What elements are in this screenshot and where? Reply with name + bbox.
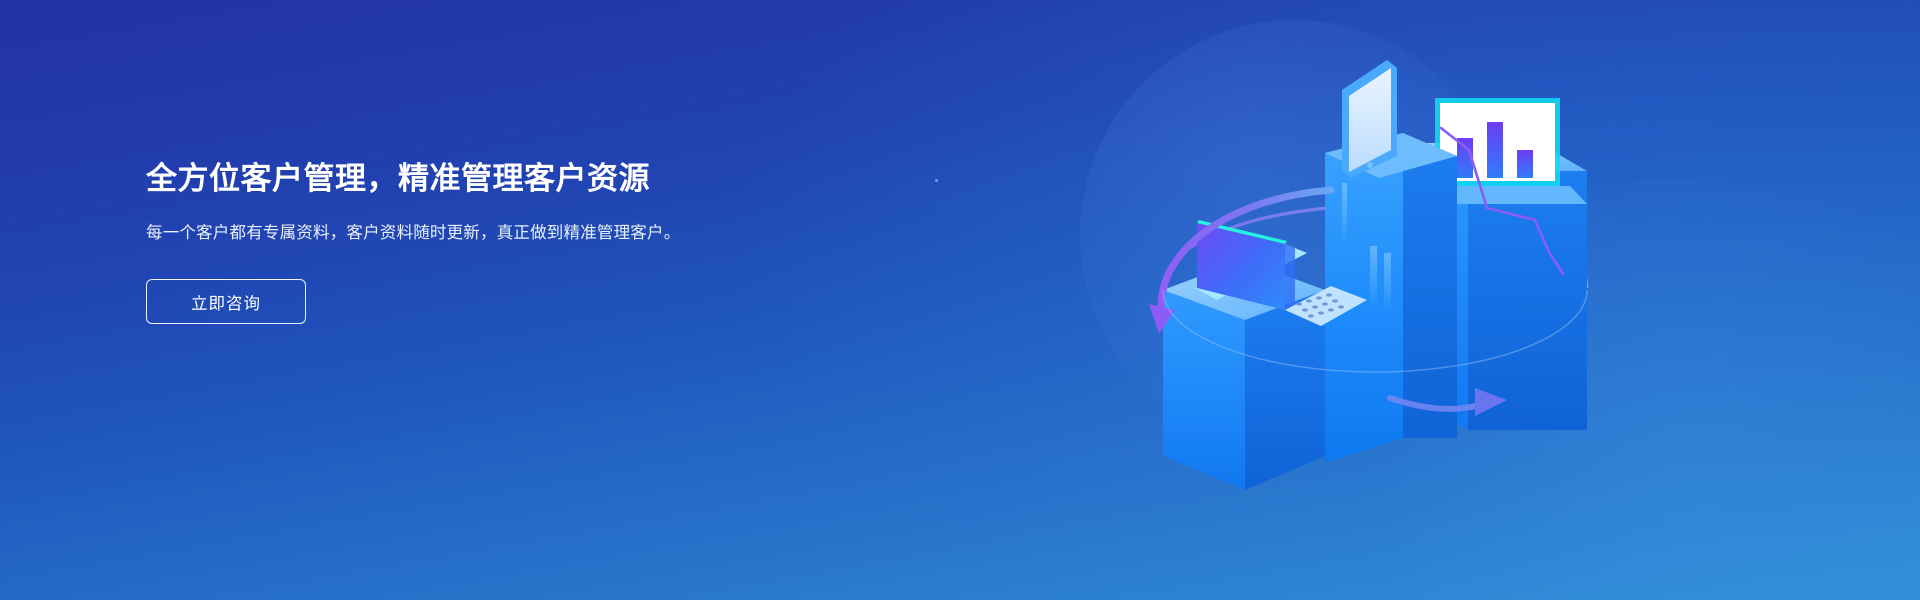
chart-bar-2 <box>1487 122 1503 178</box>
hero-subtitle: 每一个客户都有专属资料，客户资料随时更新，真正做到精准管理客户。 <box>146 220 736 247</box>
hero-banner: 全方位客户管理，精准管理客户资源 每一个客户都有专属资料，客户资料随时更新，真正… <box>0 0 1920 600</box>
hero-copy: 全方位客户管理，精准管理客户资源 每一个客户都有专属资料，客户资料随时更新，真正… <box>146 160 786 324</box>
consult-now-button[interactable]: 立即咨询 <box>146 279 306 324</box>
page-title: 全方位客户管理，精准管理客户资源 <box>146 160 786 199</box>
chart-bar-3 <box>1517 150 1533 178</box>
hero-illustration <box>1135 38 1615 518</box>
decorative-dot <box>935 179 938 182</box>
